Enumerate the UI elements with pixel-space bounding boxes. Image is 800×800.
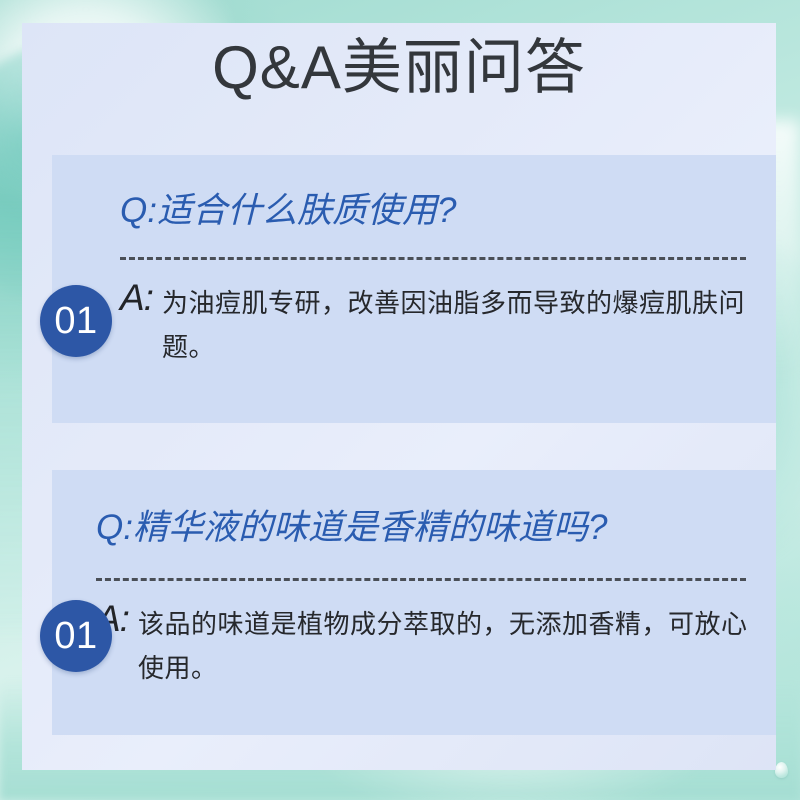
faq-answer-block: A: 该品的味道是植物成分萃取的，无添加香精，可放心使用。 [96,600,756,690]
content-panel: Q&A美丽问答 Q:适合什么肤质使用? A: 为油痘肌专研，改善因油脂多而导致的… [22,23,776,770]
water-droplet-icon [775,762,788,778]
faq-answer-marker: A: [120,279,153,317]
faq-number-badge: 01 [40,285,112,357]
faq-divider [120,257,746,260]
faq-question: Q:适合什么肤质使用? [120,191,760,232]
faq-card: Q:适合什么肤质使用? A: 为油痘肌专研，改善因油脂多而导致的爆痘肌肤问题。 [52,155,776,423]
faq-divider [96,578,746,581]
faq-answer: 为油痘肌专研，改善因油脂多而导致的爆痘肌肤问题。 [162,279,756,369]
faq-answer: 该品的味道是植物成分萃取的，无添加香精，可放心使用。 [138,600,756,690]
promo-graphic: Q&A美丽问答 Q:适合什么肤质使用? A: 为油痘肌专研，改善因油脂多而导致的… [0,0,800,800]
faq-number-badge: 01 [40,600,112,672]
page-title-wrap: Q&A美丽问答 [22,38,776,98]
faq-answer-block: A: 为油痘肌专研，改善因油脂多而导致的爆痘肌肤问题。 [120,279,756,369]
faq-question: Q:精华液的味道是香精的味道吗? [96,508,760,549]
faq-card: Q:精华液的味道是香精的味道吗? A: 该品的味道是植物成分萃取的，无添加香精，… [52,470,776,735]
page-title: Q&A美丽问答 [212,38,586,98]
